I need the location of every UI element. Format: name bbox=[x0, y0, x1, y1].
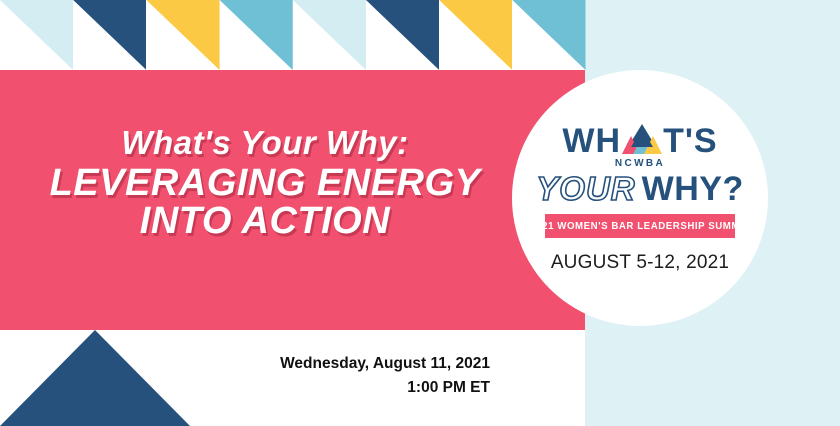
event-date-line: Wednesday, August 11, 2021 bbox=[150, 352, 490, 376]
logo-summit-bar-label: 2021 WOMEN'S BAR LEADERSHIP SUMMIT bbox=[530, 221, 749, 232]
headline-line-1: What's Your Why: bbox=[20, 126, 510, 160]
logo-wordmark-line-2: YOURWHY? bbox=[512, 170, 768, 209]
navy-triangle-icon bbox=[366, 0, 439, 70]
logo-wordmark-line-1: WHT'S bbox=[512, 122, 768, 161]
headline-line-2: LEVERAGING ENERGY bbox=[20, 164, 510, 203]
triangle-cell bbox=[366, 0, 439, 70]
logo-summit-dates: AUGUST 5-12, 2021 bbox=[512, 252, 768, 274]
promotional-poster: What's Your Why: LEVERAGING ENERGY INTO … bbox=[0, 0, 840, 426]
logo-inner: WHT'S NCWBA YOURWHY? 2021 WOMEN'S BAR LE… bbox=[512, 70, 768, 326]
triangle-cell bbox=[146, 0, 219, 70]
logo-org-abbrev: NCWBA bbox=[512, 158, 768, 169]
pale-teal-triangle-icon bbox=[0, 0, 73, 70]
event-datetime: Wednesday, August 11, 2021 1:00 PM ET bbox=[150, 352, 490, 400]
logo-word-your: YOUR bbox=[536, 170, 635, 208]
triangle-cell bbox=[439, 0, 512, 70]
teal-triangle-icon bbox=[220, 0, 293, 70]
headline: What's Your Why: LEVERAGING ENERGY INTO … bbox=[20, 126, 510, 241]
navy-triangle-icon bbox=[73, 0, 146, 70]
event-time-line: 1:00 PM ET bbox=[150, 376, 490, 400]
teal-triangle-icon bbox=[512, 0, 585, 70]
triangle-cell bbox=[512, 0, 585, 70]
logo-word-part-1: WH bbox=[562, 122, 621, 161]
triangle-cell bbox=[293, 0, 366, 70]
pale-teal-triangle-icon bbox=[293, 0, 366, 70]
triangle-pattern-strip bbox=[0, 0, 585, 70]
triangle-cell bbox=[73, 0, 146, 70]
ncwba-triangle-mark-icon bbox=[622, 124, 662, 155]
logo-summit-bar: 2021 WOMEN'S BAR LEADERSHIP SUMMIT bbox=[545, 214, 735, 238]
logo-word-why: WHY? bbox=[642, 170, 744, 209]
headline-line-3: INTO ACTION bbox=[20, 202, 510, 241]
logo-circle: WHT'S NCWBA YOURWHY? 2021 WOMEN'S BAR LE… bbox=[512, 70, 768, 326]
yellow-triangle-icon bbox=[439, 0, 512, 70]
triangle-cell bbox=[0, 0, 73, 70]
logo-word-part-2: T'S bbox=[663, 122, 718, 161]
triangle-cell bbox=[220, 0, 293, 70]
yellow-triangle-icon bbox=[146, 0, 219, 70]
